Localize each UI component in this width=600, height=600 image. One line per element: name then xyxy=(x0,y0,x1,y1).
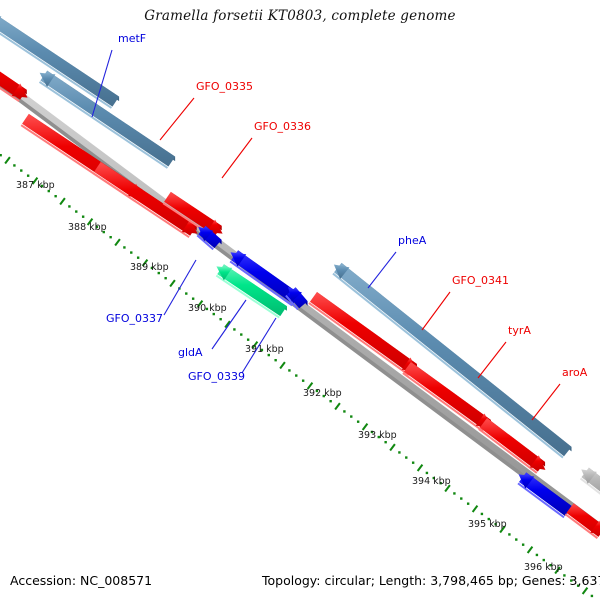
scale-tick-label: 390 kbp xyxy=(188,303,227,314)
ruler-dot xyxy=(219,318,221,320)
ruler-dot xyxy=(384,441,386,443)
label-leader-line xyxy=(532,384,560,420)
ruler-dot xyxy=(302,379,304,381)
scale-tick-label: 396 kbp xyxy=(524,562,563,573)
label-leader-lines xyxy=(92,50,560,420)
gene-label[interactable]: tyrA xyxy=(508,324,531,337)
ruler-dot xyxy=(109,236,111,238)
label-leader-line xyxy=(478,342,506,378)
ruler-dot xyxy=(357,420,359,422)
scale-tick-label: 389 kbp xyxy=(130,262,169,273)
scale-tick-label: 393 kbp xyxy=(358,430,397,441)
ruler-dot xyxy=(412,461,414,463)
gene-label[interactable]: GFO_0341 xyxy=(452,274,509,287)
ruler-major-tick xyxy=(473,506,478,512)
gene-feature-unlabeled xyxy=(0,56,28,101)
ruler-dot xyxy=(185,292,187,294)
label-leader-line xyxy=(222,138,252,178)
label-leader-line xyxy=(422,292,450,330)
genome-map-figure: Gramella forsetii KT0803, complete genom… xyxy=(0,0,600,600)
gene-label[interactable]: GFO_0336 xyxy=(254,120,311,133)
ruler-dot xyxy=(164,277,166,279)
gene-label[interactable]: aroA xyxy=(562,366,588,379)
genome-map-canvas: 387 kbp388 kbp389 kbp390 kbp391 kbp392 k… xyxy=(0,0,600,600)
ruler-dot xyxy=(350,415,352,417)
gene-label[interactable]: pheA xyxy=(398,234,427,247)
ruler-dot xyxy=(329,400,331,402)
ruler-dot xyxy=(0,154,2,156)
gene-label[interactable]: metF xyxy=(118,32,146,45)
ruler-dot xyxy=(398,451,400,453)
ruler-major-tick xyxy=(583,588,588,594)
ruler-dot xyxy=(405,456,407,458)
ruler-dot xyxy=(192,297,194,299)
gene-label[interactable]: GFO_0339 xyxy=(188,370,245,383)
label-leader-line xyxy=(368,252,396,288)
gene-feature-unlabeled xyxy=(580,468,600,499)
scale-tick-label: 391 kbp xyxy=(245,344,284,355)
ruler-major-tick xyxy=(335,403,340,409)
ruler-dot xyxy=(295,374,297,376)
ruler-major-tick xyxy=(115,239,120,245)
label-leader-line xyxy=(160,98,194,140)
ruler-dot xyxy=(137,256,139,258)
ruler-dot xyxy=(82,215,84,217)
accession-text: Accession: NC_008571 xyxy=(10,573,152,588)
scale-tick-label: 395 kbp xyxy=(468,519,507,530)
ruler-dot xyxy=(288,369,290,371)
gene-feature xyxy=(39,71,175,168)
ruler-dot xyxy=(13,164,15,166)
ruler-dot xyxy=(515,538,517,540)
ruler-major-tick xyxy=(170,280,175,286)
scale-tick-label: 388 kbp xyxy=(68,222,107,233)
ruler-major-tick xyxy=(5,157,10,163)
ruler-dot xyxy=(233,328,235,330)
gene-label[interactable]: GFO_0337 xyxy=(106,312,163,325)
ruler-dot xyxy=(130,251,132,253)
scale-tick-label: 394 kbp xyxy=(412,476,451,487)
ruler-dot xyxy=(481,513,483,515)
ruler-dot xyxy=(54,195,56,197)
ruler-dot xyxy=(591,595,593,597)
gene-label[interactable]: gldA xyxy=(178,346,203,359)
ruler-dot xyxy=(240,333,242,335)
ruler-major-tick xyxy=(60,198,65,204)
gene-feature xyxy=(309,292,418,375)
ruler-major-tick xyxy=(528,547,533,553)
ruler-dot xyxy=(247,338,249,340)
gene-label[interactable]: GFO_0335 xyxy=(196,80,253,93)
gene-body xyxy=(94,162,197,236)
ruler-dot xyxy=(68,205,70,207)
genome-stats-text: Topology: circular; Length: 3,798,465 bp… xyxy=(262,573,600,588)
ruler-dot xyxy=(426,472,428,474)
ruler-dot xyxy=(27,174,29,176)
ruler-dot xyxy=(453,492,455,494)
ruler-dot xyxy=(467,502,469,504)
ruler-dot xyxy=(543,559,545,561)
ruler-major-tick xyxy=(280,362,285,368)
ruler-dot xyxy=(274,359,276,361)
scale-tick-label: 387 kbp xyxy=(16,180,55,191)
ruler-dot xyxy=(20,169,22,171)
gene-feature-unlabeled xyxy=(518,472,572,517)
gene-body xyxy=(310,292,417,374)
ruler-major-tick xyxy=(390,444,395,450)
ruler-dot xyxy=(460,497,462,499)
ruler-dot xyxy=(522,543,524,545)
ruler-major-tick xyxy=(418,465,423,471)
ruler-dot xyxy=(508,533,510,535)
scale-tick-label: 392 kbp xyxy=(303,388,342,399)
ruler-dot xyxy=(343,410,345,412)
ruler-dot xyxy=(123,246,125,248)
ruler-dot xyxy=(536,554,538,556)
gene-feature-unlabeled xyxy=(565,503,600,538)
ruler-dot xyxy=(75,210,77,212)
